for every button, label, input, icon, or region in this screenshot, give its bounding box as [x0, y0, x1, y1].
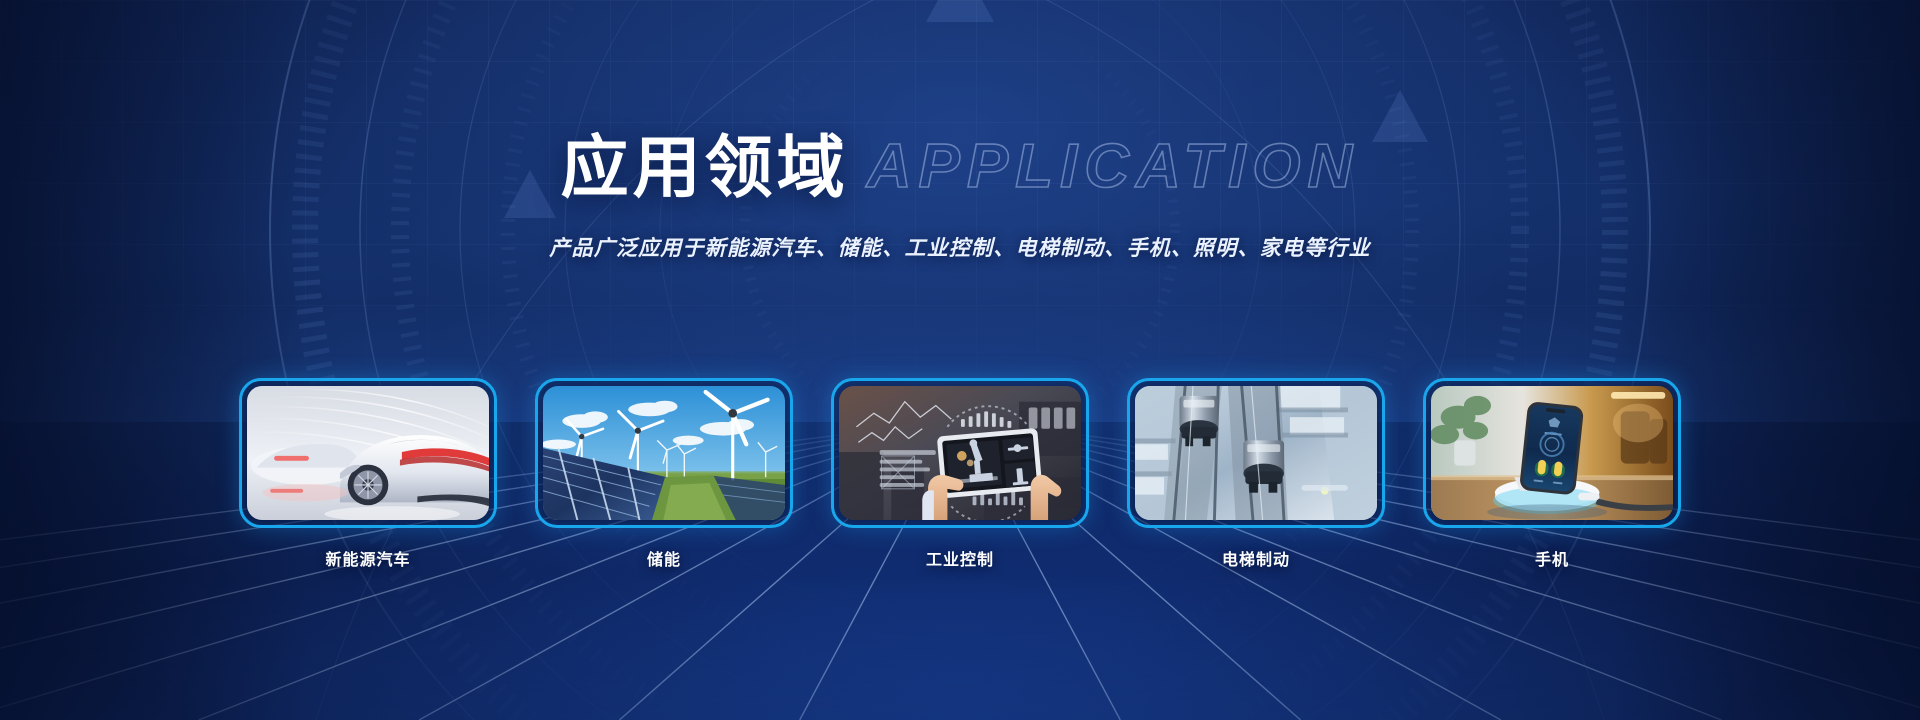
- card-frame: [239, 378, 497, 528]
- application-card-elevator-braking[interactable]: 电梯制动: [1127, 378, 1385, 570]
- card-frame: [1423, 378, 1681, 528]
- page-title-english: APPLICATION: [867, 136, 1360, 198]
- card-label: 电梯制动: [1222, 546, 1290, 570]
- application-card-industrial-control[interactable]: 工业控制: [831, 378, 1089, 570]
- radar-arc-rings: [110, 0, 1810, 720]
- page-subtitle: 产品广泛应用于新能源汽车、储能、工业控制、电梯制动、手机、照明、家电等行业: [0, 232, 1920, 262]
- page-title: 应用领域: [561, 134, 849, 202]
- energy-storage-photo: [543, 386, 785, 520]
- application-card-mobile-phone[interactable]: 手机: [1423, 378, 1681, 570]
- application-card-new-energy-vehicle[interactable]: 新能源汽车: [239, 378, 497, 570]
- mobile-phone-photo: [1431, 386, 1673, 520]
- industrial-control-photo: [839, 386, 1081, 520]
- application-banner: 应用领域 APPLICATION 产品广泛应用于新能源汽车、储能、工业控制、电梯…: [0, 0, 1920, 720]
- background-decoration: [0, 0, 1920, 720]
- card-frame: [1127, 378, 1385, 528]
- edge-vignette: [0, 0, 1920, 720]
- card-label: 工业控制: [926, 546, 994, 570]
- card-label: 储能: [647, 546, 681, 570]
- card-label: 手机: [1535, 546, 1569, 570]
- elevator-braking-photo: [1135, 386, 1377, 520]
- application-card-energy-storage[interactable]: 储能: [535, 378, 793, 570]
- card-label: 新能源汽车: [325, 546, 410, 570]
- new-energy-vehicle-photo: [247, 386, 489, 520]
- application-card-list: 新能源汽车: [0, 378, 1920, 570]
- banner-heading: 应用领域 APPLICATION 产品广泛应用于新能源汽车、储能、工业控制、电梯…: [0, 134, 1920, 262]
- card-frame: [831, 378, 1089, 528]
- card-frame: [535, 378, 793, 528]
